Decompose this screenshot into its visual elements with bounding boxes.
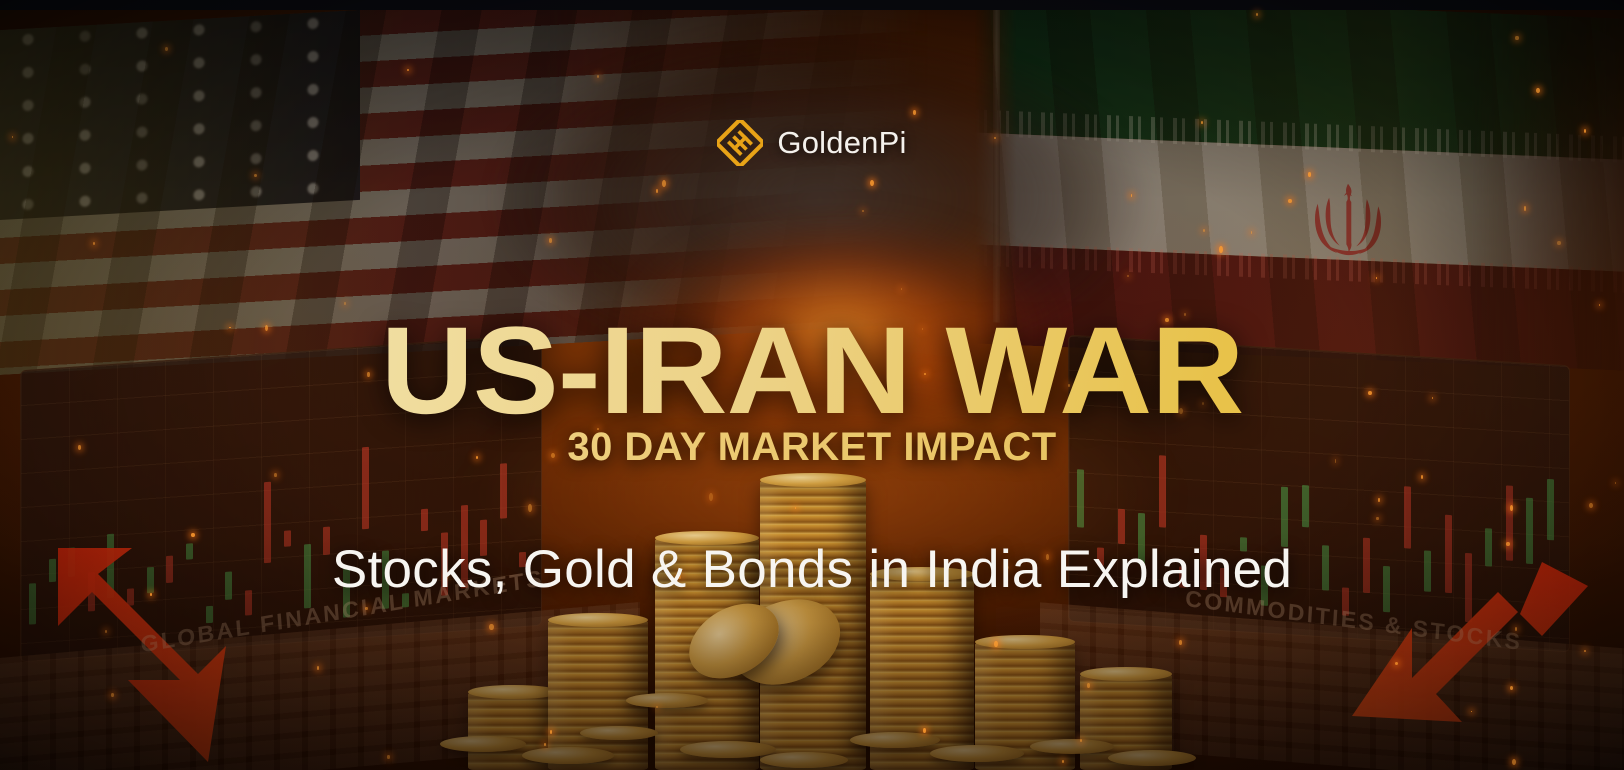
brand-lockup[interactable]: GoldenPi: [0, 120, 1624, 166]
brand-name: GoldenPi: [777, 125, 906, 161]
page-tagline: Stocks, Gold & Bonds in India Explained: [0, 539, 1624, 600]
page-subtitle: 30 DAY MARKET IMPACT: [0, 425, 1624, 470]
goldenpi-diamond-logo-icon: [717, 120, 763, 166]
banner-stage: GLOBAL FINANCIAL MARKETS COMMODITIES & S…: [0, 0, 1624, 770]
hero-content: GoldenPi US-IRAN WAR 30 DAY MARKET IMPAC…: [0, 0, 1624, 770]
page-title: US-IRAN WAR: [0, 309, 1624, 433]
